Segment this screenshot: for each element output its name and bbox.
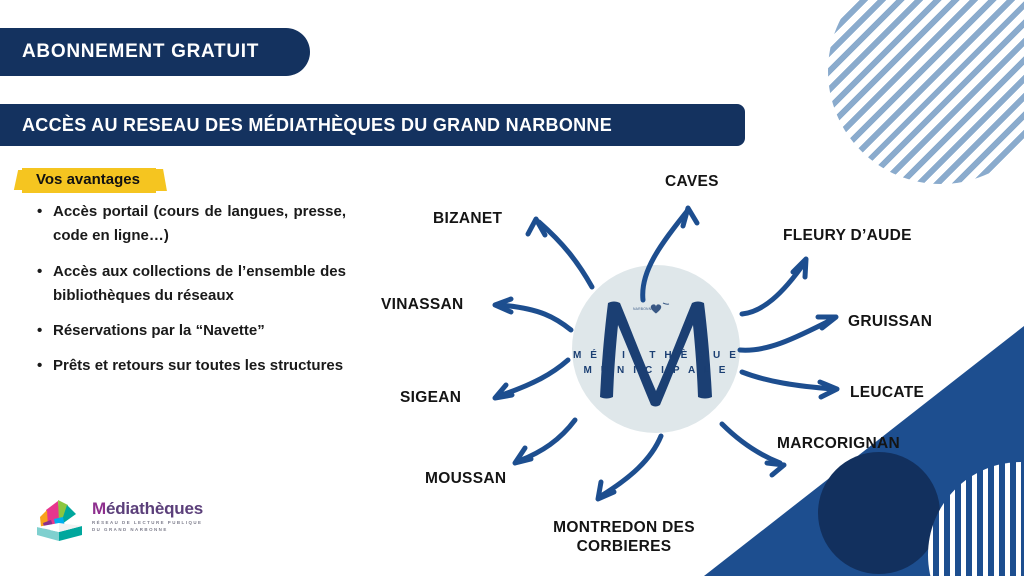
advantages-highlight: Vos avantages [22,168,156,193]
list-item: Accès aux collections de l’ensemble des … [36,260,346,309]
advantages-heading: Vos avantages [36,171,140,188]
city-label-leucate: LEUCATE [850,383,924,402]
mediatheque-municipale-logo: NARBONNE M É D I A T H È Q U E M U N I C… [572,265,740,433]
striped-circle-top-right-decoration [828,0,1024,184]
logo-caption: M É D I A T H È Q U E M U N I C I P A L … [572,349,740,378]
logo-wordmark: Médiathèques [92,500,203,517]
list-item: Prêts et retours sur toutes les structur… [36,354,346,378]
logo-caption-line-2: M U N I C I P A L E [572,364,740,379]
arrow-to-leucate [742,372,833,389]
arrow-to-montredon-des-corbieres [601,436,661,496]
logo-wordmark-rest: édiathèques [106,499,203,518]
arrow-to-gruissan [740,319,833,350]
page-title: ACCÈS AU RESEAU DES MÉDIATHÈQUES DU GRAN… [22,115,612,136]
logo-subtitle-line-2: DU GRAND NARBONNE [92,527,203,532]
arrow-to-moussan [519,420,575,461]
mediatheques-logo: Médiathèques RÉSEAU DE LECTURE PUBLIQUE … [34,496,214,552]
city-label-fleury-daude: FLEURY D’AUDE [783,226,912,245]
city-label-caves: CAVES [665,172,719,191]
advantages-list: Accès portail (cours de langues, presse,… [36,200,346,390]
logo-text-block: Médiathèques RÉSEAU DE LECTURE PUBLIQUE … [92,500,203,532]
logo-wordmark-initial: M [92,499,106,518]
narbonne-emblem-icon: NARBONNE [633,301,679,319]
svg-text:NARBONNE: NARBONNE [633,307,654,311]
navy-circle-bottom-right-decoration [818,452,940,574]
logo-subtitle-line-1: RÉSEAU DE LECTURE PUBLIQUE [92,520,203,525]
arrow-to-fleury-daude [742,262,805,314]
subscription-banner: ABONNEMENT GRATUIT [0,28,310,76]
advantages-heading-wrapper: Vos avantages [22,168,156,193]
open-book-logo-icon [34,496,86,546]
city-label-moussan: MOUSSAN [425,469,506,488]
arrow-to-vinassan [499,305,571,330]
page-title-bar: ACCÈS AU RESEAU DES MÉDIATHÈQUES DU GRAN… [0,104,745,146]
city-label-sigean: SIGEAN [400,388,461,407]
arrow-to-sigean [499,360,568,396]
city-label-gruissan: GRUISSAN [848,312,932,331]
city-label-marcorignan: MARCORIGNAN [777,434,900,453]
city-label-bizanet: BIZANET [433,209,502,228]
city-label-montredon-des-corbieres: MONTREDON DES CORBIERES [529,518,719,557]
list-item: Accès portail (cours de langues, presse,… [36,200,346,249]
list-item: Réservations par la “Navette” [36,319,346,343]
heart-birds-icon: NARBONNE [633,301,679,317]
slide-canvas: ABONNEMENT GRATUIT ACCÈS AU RESEAU DES M… [0,0,1024,576]
logo-caption-line-1: M É D I A T H È Q U E [572,349,740,364]
city-label-vinassan: VINASSAN [381,295,464,314]
subscription-banner-label: ABONNEMENT GRATUIT [22,41,259,63]
